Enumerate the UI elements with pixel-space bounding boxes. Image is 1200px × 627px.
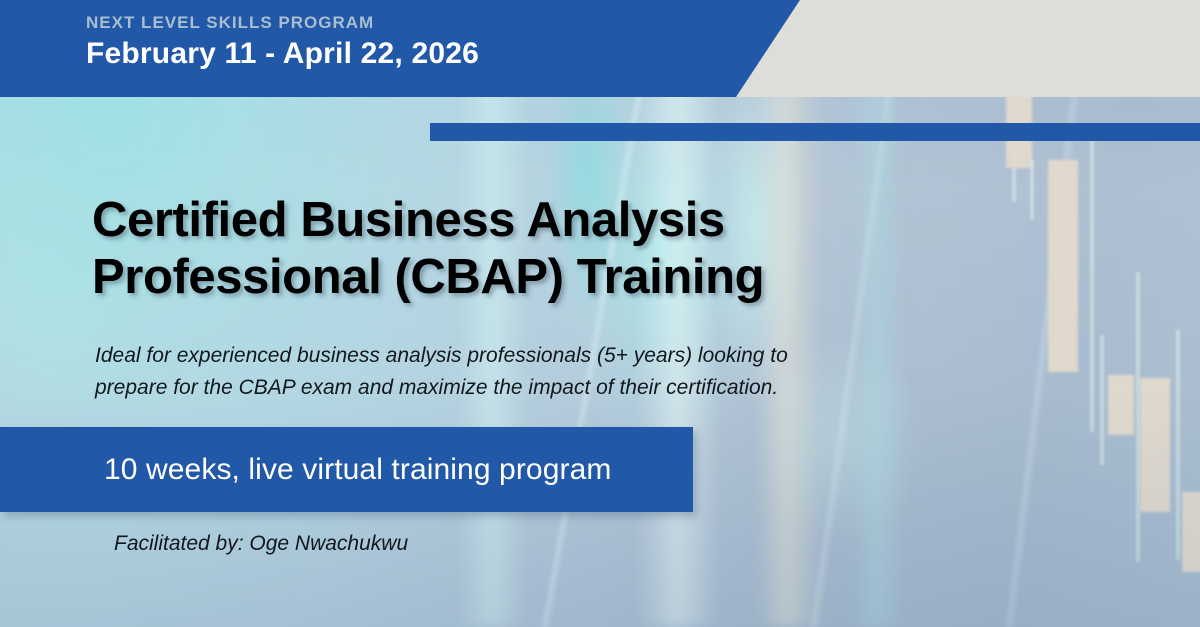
facilitator-label: Facilitated by: Oge Nwachukwu (114, 532, 408, 556)
page-title-line-1: Certified Business Analysis (92, 192, 922, 249)
program-eyebrow-label: NEXT LEVEL SKILLS PROGRAM (86, 12, 726, 33)
header-accent-stripe (430, 123, 1200, 141)
program-dates: February 11 - April 22, 2026 (86, 35, 726, 73)
course-description-line-2: prepare for the CBAP exam and maximize t… (95, 372, 905, 404)
header-text-group: NEXT LEVEL SKILLS PROGRAM February 11 - … (86, 12, 726, 73)
course-description-line-1: Ideal for experienced business analysis … (95, 340, 905, 372)
page-title-line-2: Professional (CBAP) Training (92, 249, 922, 306)
page-title: Certified Business Analysis Professional… (92, 192, 922, 306)
course-description: Ideal for experienced business analysis … (95, 340, 905, 404)
duration-callout-box: 10 weeks, live virtual training program (0, 427, 693, 512)
promotional-banner: NEXT LEVEL SKILLS PROGRAM February 11 - … (0, 0, 1200, 627)
duration-label: 10 weeks, live virtual training program (0, 453, 611, 487)
